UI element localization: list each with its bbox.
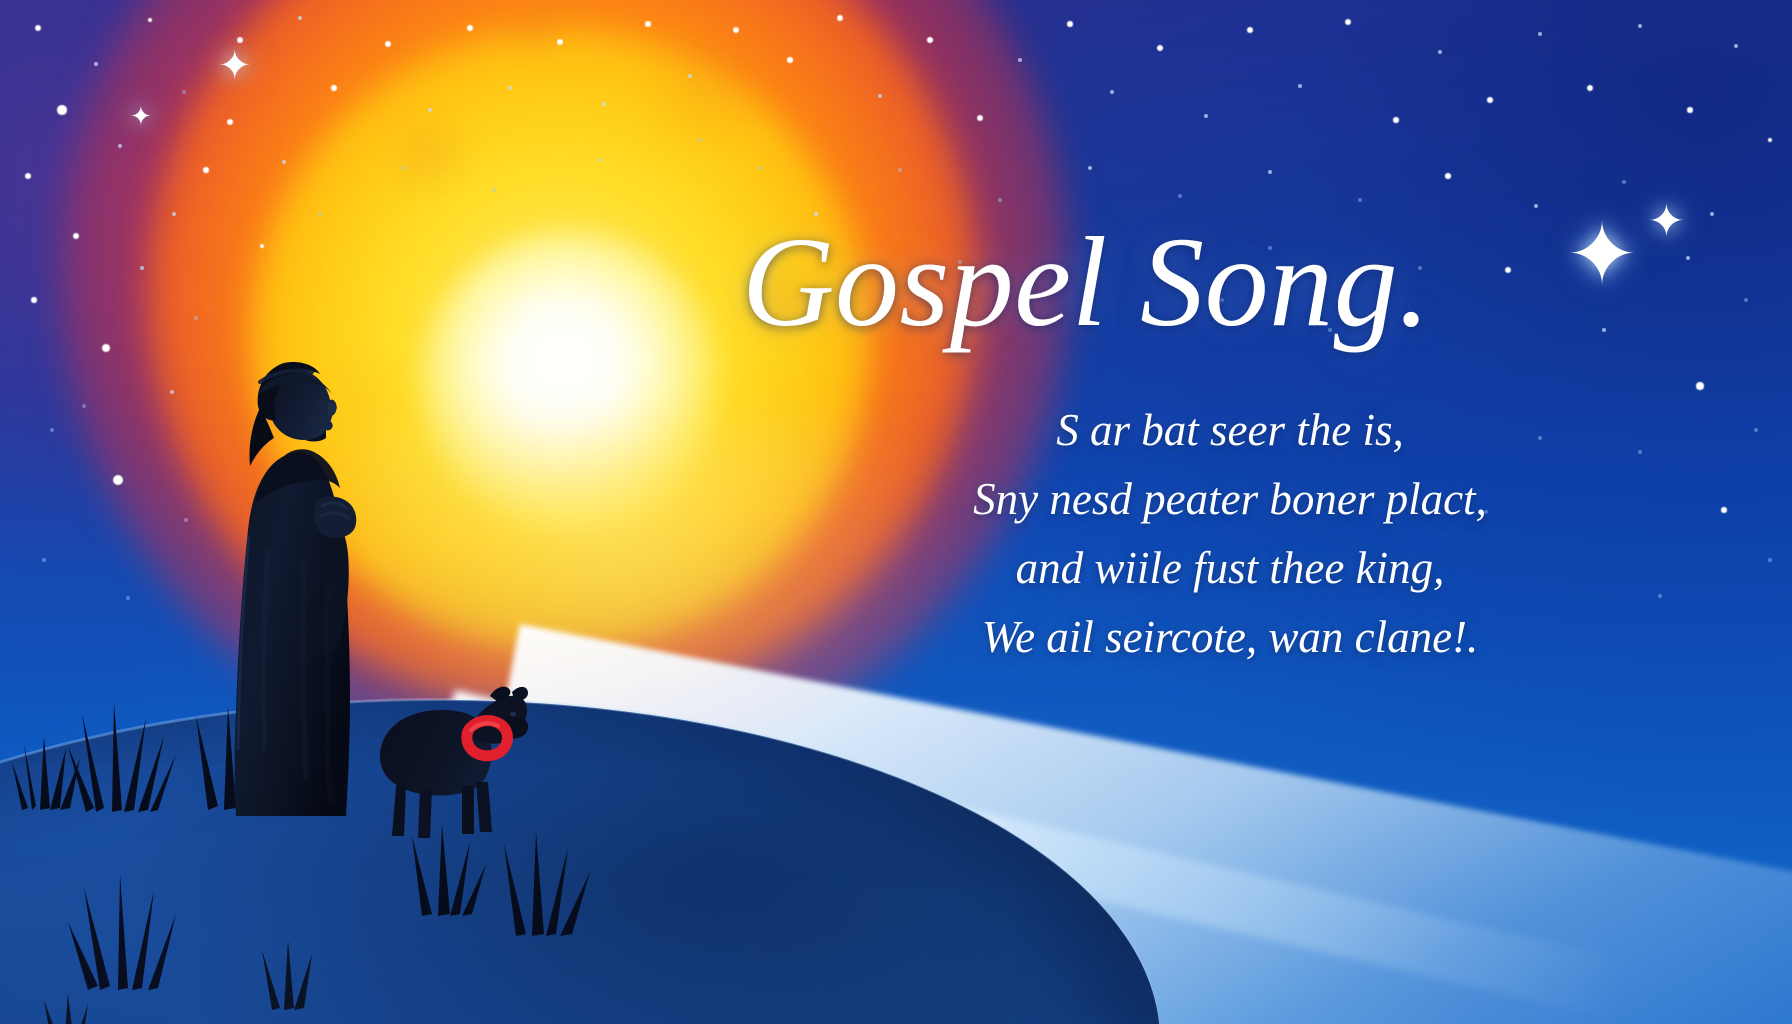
star-dot (492, 188, 496, 192)
star-icon: ✦ (1648, 200, 1685, 244)
star-dot (1734, 44, 1738, 48)
star-dot (1178, 194, 1182, 198)
star-dot (182, 90, 186, 94)
shepherd-silhouette (222, 350, 442, 820)
verse-line-4: We ail seircote, wan clane!. (880, 603, 1580, 672)
star-dot (113, 475, 123, 485)
verse-line-1: S ar bat seer the is, (880, 396, 1580, 465)
star-dot (25, 173, 31, 179)
star-dot (698, 138, 702, 142)
star-dot (557, 39, 563, 45)
verse-line-3: and wiile fust thee king, (880, 534, 1580, 603)
star-dot (1445, 173, 1450, 178)
star-dot (1438, 50, 1442, 54)
star-icon: ✦ (130, 104, 152, 130)
star-dot (998, 198, 1002, 202)
star-dot (1744, 298, 1748, 302)
star-icon: ✦ (1566, 212, 1638, 298)
grass-tuft (246, 930, 336, 1010)
star-dot (1622, 180, 1626, 184)
star-dot (758, 166, 762, 170)
star-dot (645, 21, 651, 27)
star-dot (73, 233, 79, 239)
star-dot (1721, 507, 1726, 512)
star-dot (94, 62, 98, 66)
star-dot (318, 212, 322, 216)
verse-block: S ar bat seer the is, Sny nesd peater bo… (880, 396, 1580, 671)
star-dot (227, 119, 233, 125)
star-dot (1587, 85, 1593, 91)
star-dot (1687, 107, 1692, 112)
star-dot (35, 25, 41, 31)
gospel-song-poster: ✦✦✦✦ Gospel Song. S ar bat seer the is, … (0, 0, 1792, 1024)
star-dot (1110, 90, 1114, 94)
grass-tuft (62, 860, 212, 990)
star-dot (467, 25, 473, 31)
star-dot (927, 37, 933, 43)
star-dot (1487, 97, 1493, 103)
star-dot (172, 212, 176, 216)
star-dot (787, 57, 792, 62)
star-dot (1393, 117, 1398, 122)
star-dot (82, 404, 86, 408)
star-dot (837, 15, 843, 21)
star-dot (1247, 27, 1253, 33)
grass-tuft (484, 826, 614, 936)
star-dot (31, 297, 36, 302)
star-dot (331, 85, 336, 90)
star-dot (508, 86, 512, 90)
star-dot (1067, 21, 1072, 26)
star-dot (1505, 267, 1511, 273)
star-dot (170, 390, 174, 394)
star-icon: ✦ (218, 46, 252, 86)
star-dot (1754, 428, 1758, 432)
grass-tuft (30, 986, 110, 1024)
star-dot (57, 105, 66, 114)
star-dot (184, 518, 188, 522)
verse-line-2: Sny nesd peater boner plact, (880, 465, 1580, 534)
star-dot (203, 167, 208, 172)
star-dot (298, 16, 302, 20)
star-dot (1768, 558, 1772, 562)
star-dot (1696, 382, 1703, 389)
star-dot (1157, 45, 1163, 51)
star-dot (126, 596, 130, 600)
star-dot (1358, 198, 1362, 202)
page-title: Gospel Song. (742, 218, 1431, 346)
